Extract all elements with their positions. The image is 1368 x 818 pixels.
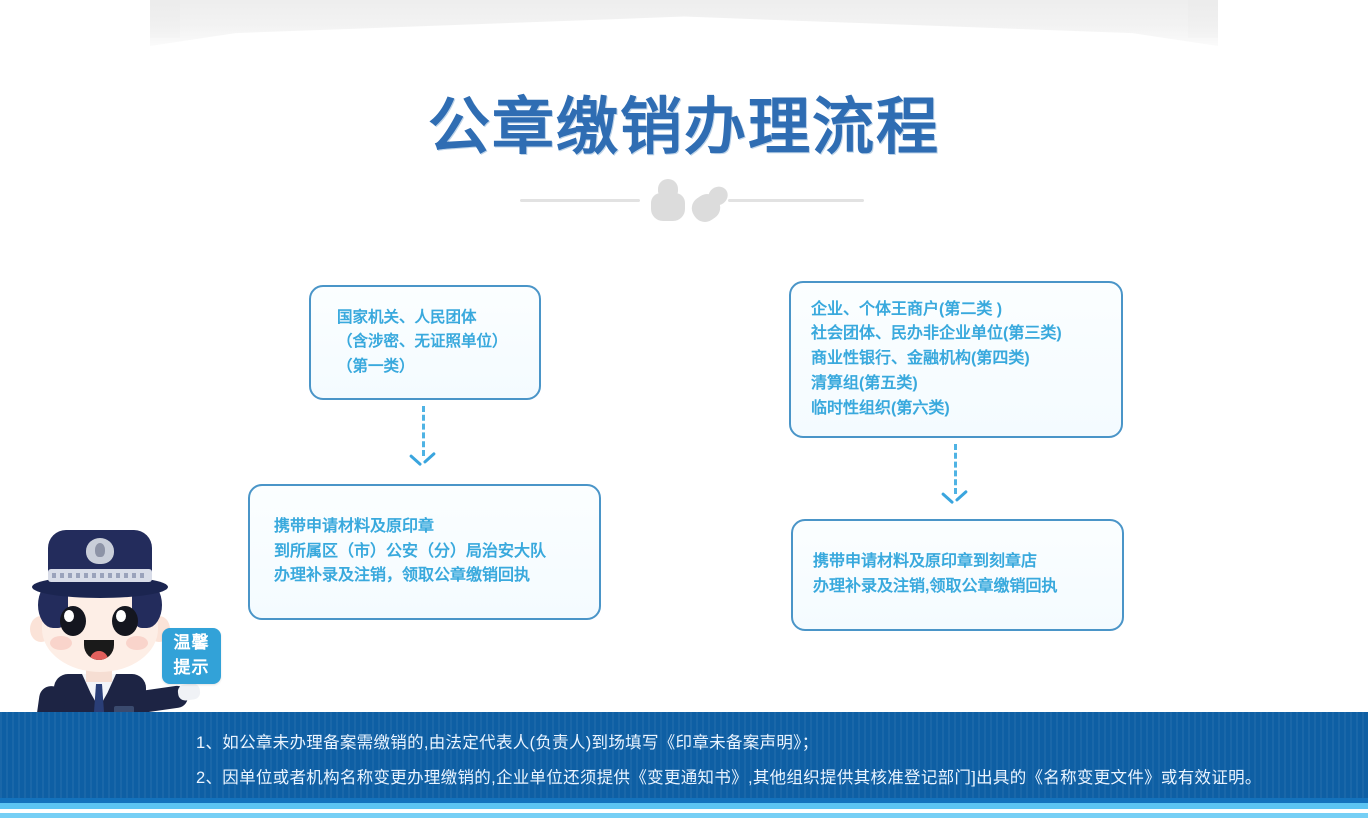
flow-box-right-step-2[interactable]: 携带申请材料及原印章到刻章店 办理补录及注销,领取公章缴销回执 — [791, 519, 1124, 631]
status-badge-tip: 温馨 提示 — [162, 628, 221, 684]
top-ribbon-decoration — [0, 0, 1368, 52]
divider-line-left — [520, 199, 640, 202]
seal-stamp-small-icon — [692, 187, 728, 221]
flow-text-line: 携带申请材料及原印章 — [274, 515, 599, 540]
page-title: 公章缴销办理流程 — [0, 76, 1368, 166]
banner-note-1: 1、如公章未办理备案需缴销的,由法定代表人(负责人)到场填写《印章未备案声明》； — [196, 729, 819, 753]
flow-text-line: 商业性银行、金融机构(第四类) — [811, 347, 1121, 372]
seal-stamp-icon — [651, 179, 685, 221]
tip-badge-line-1: 温馨 — [174, 631, 210, 656]
flow-text-line: 携带申请材料及原印章到刻章店 — [813, 550, 1122, 575]
flow-text-line: 社会团体、民办非企业单位(第三类) — [811, 322, 1121, 347]
flow-text-line: 清算组(第五类) — [811, 372, 1121, 397]
police-emblem-icon — [86, 538, 114, 564]
flow-text-line: （第一类） — [337, 355, 539, 379]
flow-text-line: （含涉密、无证照单位） — [337, 330, 539, 354]
flow-text-line: 临时性组织(第六类) — [811, 397, 1121, 422]
title-divider — [0, 175, 1368, 225]
flow-box-left-step-2[interactable]: 携带申请材料及原印章 到所属区（市）公安（分）局治安大队 办理补录及注销，领取公… — [248, 484, 601, 620]
flow-box-left-step-1[interactable]: 国家机关、人民团体 （含涉密、无证照单位） （第一类） — [309, 285, 541, 400]
tip-badge-line-2: 提示 — [174, 656, 210, 681]
poster-canvas: 公章缴销办理流程 国家机关、人民团体 （含涉密、无证照单位） （第一类） 携带申… — [0, 0, 1368, 818]
footer-strip-light-cyan — [0, 813, 1368, 818]
arrow-down-icon-right — [944, 444, 968, 514]
flow-text-line: 到所属区（市）公安（分）局治安大队 — [274, 540, 599, 565]
flow-text-line: 国家机关、人民团体 — [337, 306, 539, 330]
banner-note-2: 2、因单位或者机构名称变更办理缴销的,企业单位还须提供《变更通知书》,其他组织提… — [196, 764, 1262, 788]
flow-box-right-step-1[interactable]: 企业、个体王商户(第二类 ) 社会团体、民办非企业单位(第三类) 商业性银行、金… — [789, 281, 1123, 438]
divider-line-right — [728, 199, 864, 202]
flow-text-line: 办理补录及注销，领取公章缴销回执 — [274, 564, 599, 589]
flow-text-line: 办理补录及注销,领取公章缴销回执 — [813, 575, 1122, 600]
flow-text-line: 企业、个体王商户(第二类 ) — [811, 298, 1121, 323]
arrow-down-icon-left — [412, 406, 436, 476]
ribbon-shape — [150, 0, 1218, 46]
